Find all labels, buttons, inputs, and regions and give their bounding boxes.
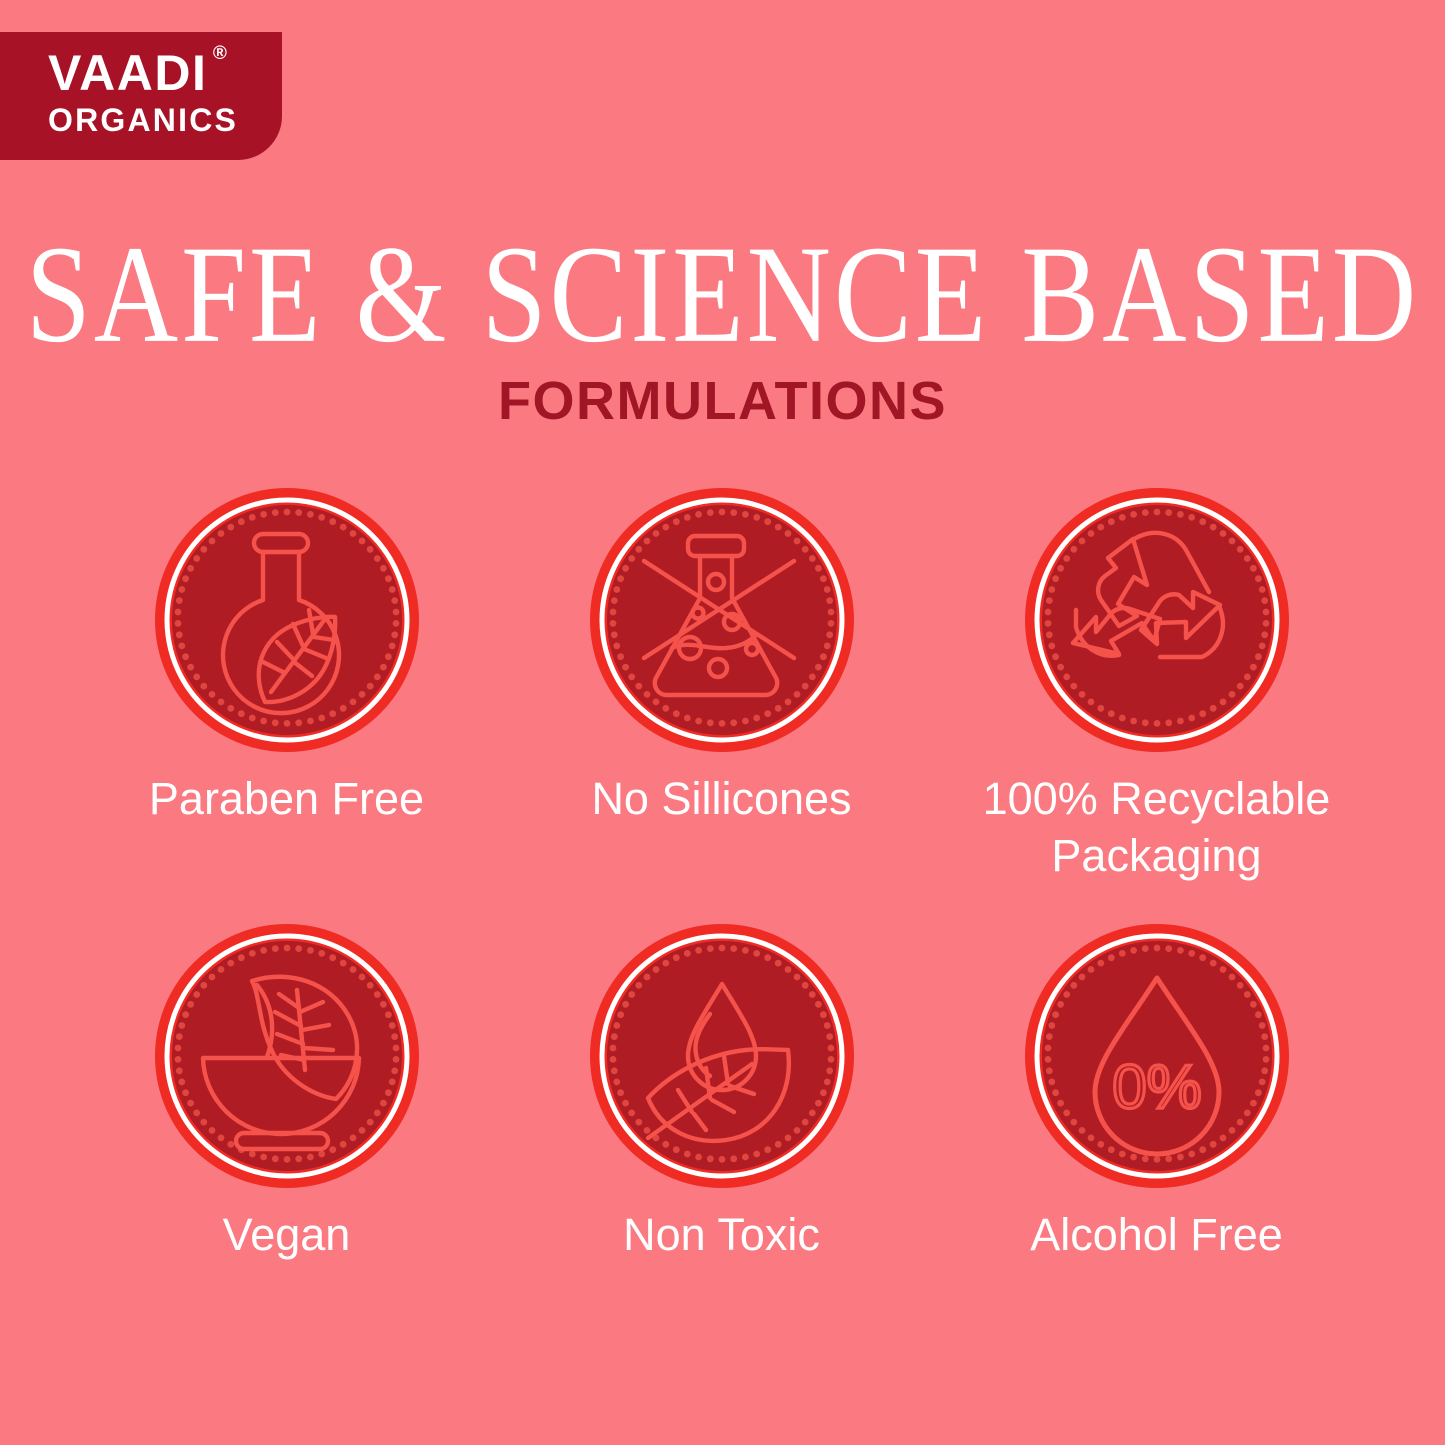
badge-no-sillicones	[588, 486, 856, 754]
infographic-page: VAADI® ORGANICS SAFE & SCIENCE BASED FOR…	[0, 0, 1445, 1445]
feature-non-toxic: Non Toxic	[504, 922, 939, 1263]
brand-name: VAADI®	[48, 46, 207, 100]
feature-label: Paraben Free	[149, 770, 424, 827]
page-title: SAFE & SCIENCE BASED	[7, 224, 1438, 366]
badge-alcohol-free: 0%	[1023, 922, 1291, 1190]
feature-label: No Sillicones	[591, 770, 851, 827]
feature-label: 100% Recyclable Packaging	[983, 770, 1331, 884]
badge-recyclable-packaging	[1023, 486, 1291, 754]
feature-label-line: Alcohol Free	[1030, 1206, 1283, 1263]
badge-non-toxic	[588, 922, 856, 1190]
page-subtitle: FORMULATIONS	[0, 372, 1445, 430]
feature-label: Alcohol Free	[1030, 1206, 1283, 1263]
feature-no-sillicones: No Sillicones	[504, 486, 939, 884]
feature-recyclable-packaging: 100% Recyclable Packaging	[939, 486, 1374, 884]
feature-vegan: Vegan	[69, 922, 504, 1263]
feature-label-line: 100% Recyclable	[983, 770, 1331, 827]
feature-paraben-free: Paraben Free	[69, 486, 504, 884]
features-grid: Paraben Free	[0, 486, 1445, 1263]
brand-logo: VAADI® ORGANICS	[0, 32, 282, 160]
brand-name-text: VAADI	[48, 45, 207, 101]
features-row-2: Vegan	[0, 922, 1445, 1263]
feature-label-line: No Sillicones	[591, 770, 851, 827]
feature-label: Non Toxic	[623, 1206, 820, 1263]
features-row-1: Paraben Free	[0, 486, 1445, 884]
feature-label-line: Packaging	[983, 827, 1331, 884]
feature-label-line: Vegan	[223, 1206, 351, 1263]
badge-vegan	[153, 922, 421, 1190]
feature-label-line: Non Toxic	[623, 1206, 820, 1263]
zero-percent-text: 0%	[1112, 1053, 1202, 1122]
feature-label: Vegan	[223, 1206, 351, 1263]
badge-paraben-free	[153, 486, 421, 754]
feature-label-line: Paraben Free	[149, 770, 424, 827]
feature-alcohol-free: 0% Alcohol Free	[939, 922, 1374, 1263]
registered-trademark-icon: ®	[213, 44, 229, 63]
brand-tagline: ORGANICS	[48, 102, 282, 138]
